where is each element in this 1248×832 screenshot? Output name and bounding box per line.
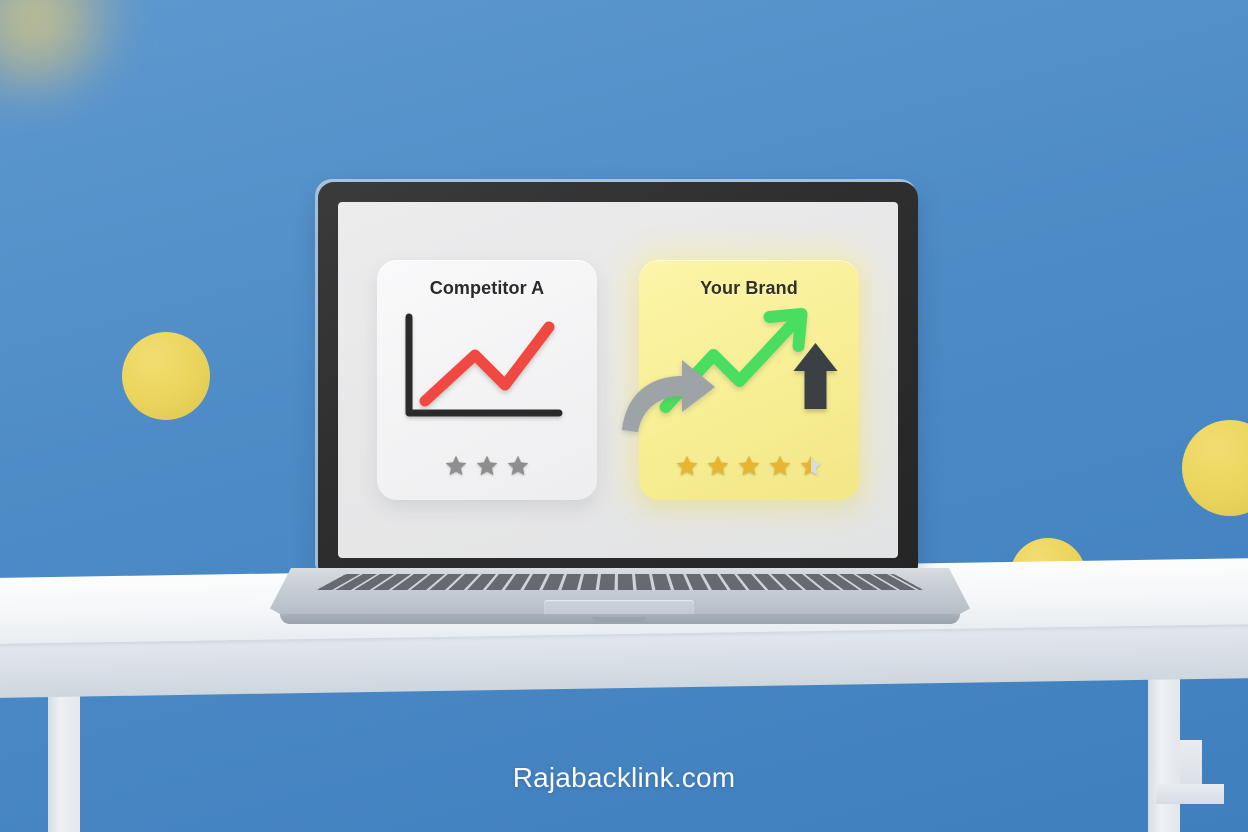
- competitor-chart-area: [377, 307, 597, 454]
- laptop-keyboard[interactable]: [316, 574, 924, 590]
- star-icon-full: [675, 454, 699, 478]
- star-icon-half: [799, 454, 823, 478]
- desk-leg-right: [1148, 676, 1180, 832]
- laptop-open-notch: [592, 617, 646, 622]
- star-icon-full: [737, 454, 761, 478]
- declining-chart-icon: [387, 309, 587, 439]
- rating-stars-competitor: [444, 454, 530, 478]
- star-icon-full: [706, 454, 730, 478]
- laptop-screen: Competitor A: [338, 202, 898, 558]
- card-title-competitor: Competitor A: [430, 278, 545, 299]
- chart-line-competitor: [425, 327, 549, 401]
- laptop: Competitor A: [270, 182, 970, 634]
- card-title-your-brand: Your Brand: [700, 278, 798, 299]
- card-competitor-a[interactable]: Competitor A: [377, 260, 597, 500]
- star-icon-full: [444, 454, 468, 478]
- star-icon-full: [475, 454, 499, 478]
- laptop-lid: Competitor A: [318, 182, 918, 572]
- curved-arrow-icon: [616, 350, 720, 436]
- star-icon-full: [768, 454, 792, 478]
- laptop-base: [270, 568, 970, 630]
- watermark-text: Rajabacklink.com: [0, 762, 1248, 794]
- up-arrow-icon: [794, 343, 838, 409]
- star-icon-full: [506, 454, 530, 478]
- screen-content: Competitor A: [338, 202, 898, 558]
- scene-root: Competitor A: [0, 0, 1248, 832]
- desk-leg-left: [48, 676, 80, 832]
- rating-stars-your-brand: [675, 454, 823, 478]
- laptop-base-body: [270, 568, 970, 620]
